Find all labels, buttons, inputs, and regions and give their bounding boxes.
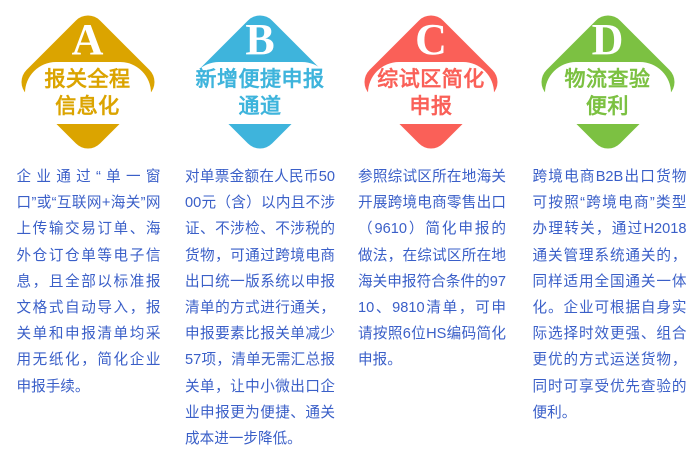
- badge-title-line2-b: 通道: [239, 93, 282, 120]
- badge-title-line2-d: 便利: [586, 93, 629, 120]
- card-b: B 新增便捷申报 通道 对单票金额在人民币5000元（含）以内且不涉证、不涉检、…: [175, 0, 345, 452]
- card-body-c: 参照综试区所在地海关开展跨境电商零售出口（9610）简化申报的做法，在综试区所在…: [358, 164, 506, 374]
- badge-c: C 综试区简化 申报: [346, 6, 516, 158]
- badge-title-line2-c: 申报: [410, 93, 453, 120]
- badge-b: B 新增便捷申报 通道: [175, 6, 345, 158]
- badge-d: D 物流查验 便利: [523, 6, 693, 158]
- badge-ribbon-d: 物流查验 便利: [545, 62, 671, 124]
- card-c: C 综试区简化 申报 参照综试区所在地海关开展跨境电商零售出口（9610）简化申…: [345, 0, 517, 374]
- card-body-a: 企业通过“单一窗口”或“互联网+海关”网上传输交易订单、海外仓订仓单等电子信息，…: [17, 164, 161, 400]
- badge-ribbon-c: 综试区简化 申报: [368, 62, 494, 124]
- card-d: D 物流查验 便利 跨境电商B2B出口货物可按照“跨境电商”类型办理转关，通过H…: [517, 0, 698, 426]
- badge-letter-d: D: [523, 18, 693, 62]
- badge-title-line1-c: 综试区简化: [377, 66, 485, 93]
- infographic-board: A 报关全程 信息化 企业通过“单一窗口”或“互联网+海关”网上传输交易订单、海…: [0, 0, 698, 465]
- card-body-d: 跨境电商B2B出口货物可按照“跨境电商”类型办理转关，通过H2018通关管理系统…: [533, 164, 687, 426]
- badge-title-line1-b: 新增便捷申报: [196, 66, 325, 93]
- badge-letter-b: B: [175, 18, 345, 62]
- badge-letter-c: C: [346, 18, 516, 62]
- badge-ribbon-a: 报关全程 信息化: [25, 62, 151, 124]
- badge-title-line2-a: 信息化: [55, 93, 120, 120]
- badge-letter-a: A: [3, 18, 173, 62]
- badge-title-line1-d: 物流查验: [565, 66, 651, 93]
- badge-ribbon-b: 新增便捷申报 通道: [188, 62, 333, 124]
- cards-row: A 报关全程 信息化 企业通过“单一窗口”或“互联网+海关”网上传输交易订单、海…: [0, 0, 698, 465]
- card-a: A 报关全程 信息化 企业通过“单一窗口”或“互联网+海关”网上传输交易订单、海…: [0, 0, 175, 400]
- badge-title-line1-a: 报关全程: [45, 66, 131, 93]
- badge-a: A 报关全程 信息化: [3, 6, 173, 158]
- card-body-b: 对单票金额在人民币5000元（含）以内且不涉证、不涉检、不涉税的货物，可通过跨境…: [185, 164, 335, 452]
